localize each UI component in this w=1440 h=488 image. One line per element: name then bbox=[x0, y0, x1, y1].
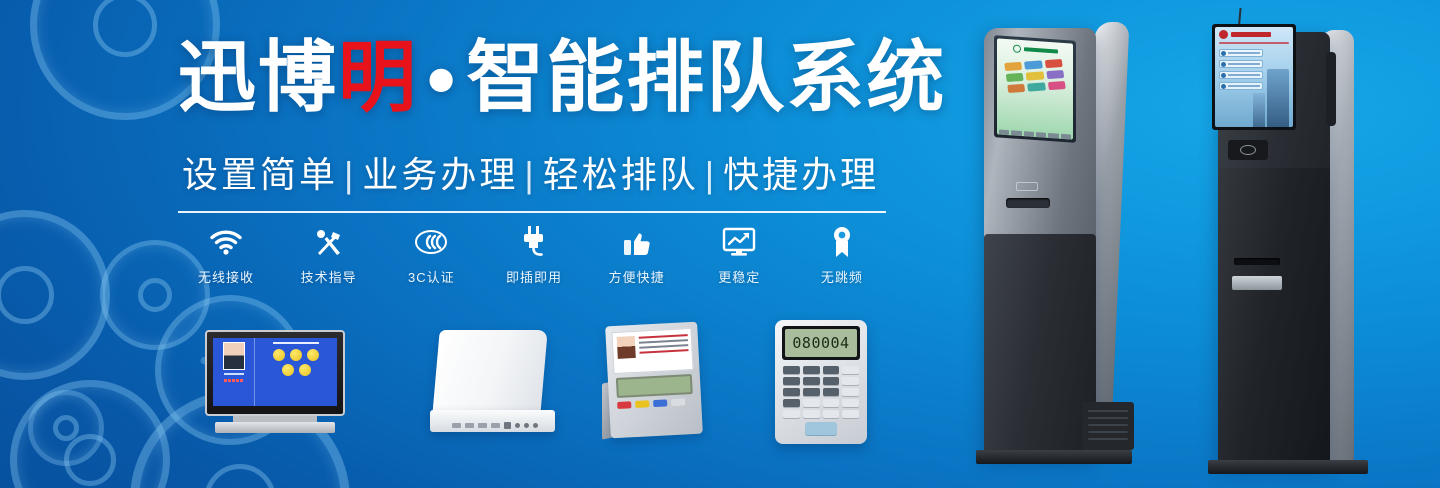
kiosk-screen[interactable] bbox=[997, 38, 1073, 139]
info-line bbox=[639, 339, 688, 344]
key[interactable] bbox=[842, 399, 859, 407]
page-title: 迅博明•智能排队系统 bbox=[178, 38, 898, 120]
key[interactable] bbox=[823, 377, 840, 385]
tab[interactable] bbox=[1036, 132, 1046, 138]
card-reader-icon bbox=[1240, 145, 1256, 155]
evaluator-buttons bbox=[617, 398, 693, 409]
silver-queue-kiosk bbox=[970, 22, 1145, 474]
tab[interactable] bbox=[999, 129, 1009, 135]
enter-key[interactable] bbox=[805, 422, 837, 435]
key[interactable] bbox=[823, 410, 840, 418]
tab[interactable] bbox=[1061, 134, 1071, 140]
tools-icon bbox=[314, 224, 344, 260]
keypad-keys bbox=[783, 366, 859, 418]
ticket-dispenser-slot bbox=[1006, 198, 1050, 208]
service-tile[interactable] bbox=[1006, 73, 1024, 82]
staff-name-line bbox=[224, 373, 244, 375]
subtitle-separator: | bbox=[338, 154, 362, 195]
service-grid bbox=[1004, 59, 1066, 93]
port bbox=[504, 422, 511, 429]
feature-item-no-frequency-hopping: 无跳频 bbox=[794, 224, 890, 286]
power-plug-icon bbox=[520, 224, 548, 260]
kiosk-screen[interactable] bbox=[1215, 27, 1293, 127]
rating-face bbox=[282, 364, 294, 376]
monitor-bezel bbox=[205, 330, 345, 416]
card-reader[interactable] bbox=[1228, 140, 1268, 160]
service-menu bbox=[1219, 49, 1263, 90]
kiosk-base bbox=[1208, 460, 1368, 474]
bank-name-text bbox=[1231, 32, 1271, 37]
screen-bottom-tabs bbox=[999, 129, 1071, 139]
desktop-evaluator bbox=[600, 324, 710, 444]
feature-item-stability: 更稳定 bbox=[691, 224, 787, 286]
rating-face bbox=[299, 364, 311, 376]
kiosk-screen-bezel bbox=[994, 35, 1076, 143]
service-tile[interactable] bbox=[1026, 71, 1044, 80]
dark-queue-kiosk bbox=[1200, 8, 1380, 474]
subtitle-item-2: 轻松排队 bbox=[543, 154, 699, 195]
service-tile[interactable] bbox=[1027, 82, 1045, 91]
key[interactable] bbox=[823, 388, 840, 396]
feature-item-plug-and-play: 即插即用 bbox=[486, 224, 582, 286]
key[interactable] bbox=[803, 388, 820, 396]
title-highlight: 明 bbox=[338, 33, 418, 123]
tab[interactable] bbox=[1024, 131, 1034, 137]
subtitle-separator: | bbox=[699, 154, 723, 195]
feature-item-convenient: 方便快捷 bbox=[589, 224, 685, 286]
info-line bbox=[639, 344, 688, 349]
rating-button[interactable] bbox=[635, 400, 649, 408]
menu-item[interactable] bbox=[1219, 60, 1263, 68]
kiosk-lower-body bbox=[1218, 168, 1330, 464]
monitor-staff-panel bbox=[213, 338, 255, 406]
feature-label: 技术指导 bbox=[301, 267, 357, 286]
feature-item-3c-certification: 3C认证 bbox=[383, 224, 479, 286]
subtitle-item-3: 快捷办理 bbox=[723, 154, 879, 195]
kiosk-vent bbox=[1082, 402, 1134, 450]
service-tile[interactable] bbox=[1046, 70, 1064, 79]
feature-item-wireless: 无线接收 bbox=[178, 224, 274, 286]
subtitle: 设置简单|业务办理|轻松排队|快捷办理 bbox=[182, 146, 942, 198]
monitor-chart-icon bbox=[722, 224, 756, 260]
subtitle-separator: | bbox=[518, 154, 542, 195]
key[interactable] bbox=[783, 366, 800, 374]
screen-subtitle-line bbox=[1219, 42, 1289, 44]
service-tile[interactable] bbox=[1044, 59, 1062, 68]
product-showcase: 080004 bbox=[0, 312, 900, 462]
monitor-base bbox=[215, 422, 335, 433]
rating-button[interactable] bbox=[617, 401, 631, 409]
port bbox=[515, 423, 520, 428]
divider bbox=[178, 211, 886, 213]
white-controller bbox=[430, 330, 555, 438]
bank-logo bbox=[1013, 44, 1058, 55]
tab[interactable] bbox=[1011, 130, 1021, 136]
promo-banner: 迅博明•智能排队系统 设置简单|业务办理|轻松排队|快捷办理 无线接收 bbox=[0, 0, 1440, 488]
key[interactable] bbox=[783, 399, 800, 407]
title-part-1: 迅博 bbox=[178, 33, 338, 123]
feature-item-tech-support: 技术指导 bbox=[281, 224, 377, 286]
ccc-certification-icon bbox=[414, 224, 448, 260]
subtitle-item-0: 设置简单 bbox=[182, 154, 338, 195]
key[interactable] bbox=[842, 410, 859, 418]
controller-ports bbox=[452, 422, 538, 429]
ticket-icon bbox=[1016, 182, 1038, 191]
feature-label: 方便快捷 bbox=[609, 267, 665, 286]
monitor-rating-panel bbox=[255, 338, 337, 406]
kiosk-base bbox=[976, 450, 1132, 464]
ticket-dispenser-slot bbox=[1234, 258, 1280, 265]
title-bullet: • bbox=[418, 44, 466, 121]
feature-label: 3C认证 bbox=[408, 267, 455, 286]
tab[interactable] bbox=[1048, 133, 1058, 139]
rating-prompt-line bbox=[273, 342, 319, 344]
rating-face bbox=[273, 349, 285, 361]
port bbox=[533, 423, 538, 428]
kiosk-screen-bezel bbox=[1212, 24, 1296, 130]
port bbox=[465, 423, 474, 428]
bank-logo bbox=[1215, 27, 1293, 39]
key[interactable] bbox=[842, 366, 859, 374]
key[interactable] bbox=[842, 377, 859, 385]
key[interactable] bbox=[783, 377, 800, 385]
kiosk-vent bbox=[1326, 52, 1336, 126]
keypad-screen-housing: 080004 bbox=[782, 326, 860, 360]
evaluator-body bbox=[605, 322, 703, 439]
staff-name-card bbox=[611, 328, 693, 374]
port bbox=[524, 423, 529, 428]
key[interactable] bbox=[823, 399, 840, 407]
key[interactable] bbox=[842, 388, 859, 396]
monitor-screen bbox=[213, 338, 337, 406]
bank-logo-mark bbox=[1219, 30, 1228, 39]
feature-label: 无跳频 bbox=[821, 267, 863, 286]
feature-label: 更稳定 bbox=[718, 267, 760, 286]
bank-name-text bbox=[1024, 47, 1058, 53]
menu-item[interactable] bbox=[1219, 49, 1263, 57]
wifi-icon bbox=[209, 224, 243, 260]
key[interactable] bbox=[803, 410, 820, 418]
service-tile[interactable] bbox=[1007, 84, 1025, 93]
controller-body bbox=[432, 330, 548, 416]
port bbox=[478, 423, 487, 428]
menu-item[interactable] bbox=[1219, 82, 1263, 90]
key[interactable] bbox=[783, 388, 800, 396]
staff-photo bbox=[617, 336, 636, 359]
evaluation-monitor bbox=[205, 330, 345, 436]
port bbox=[452, 423, 461, 428]
info-line bbox=[639, 334, 688, 339]
skyscraper-image bbox=[1267, 69, 1289, 127]
title-part-2: 智能排队系统 bbox=[466, 33, 946, 123]
subtitle-item-1: 业务办理 bbox=[362, 154, 518, 195]
rating-face bbox=[290, 349, 302, 361]
service-tile[interactable] bbox=[1004, 62, 1022, 71]
bank-logo-mark bbox=[1013, 44, 1021, 53]
service-tile[interactable] bbox=[1048, 81, 1066, 90]
rating-button[interactable] bbox=[653, 399, 667, 407]
staff-photo bbox=[223, 342, 245, 370]
rating-face bbox=[307, 349, 319, 361]
key[interactable] bbox=[803, 366, 820, 374]
keypad-lcd-value: 080004 bbox=[785, 329, 857, 357]
evaluator-lcd bbox=[616, 374, 693, 398]
key[interactable] bbox=[803, 399, 820, 407]
rating-face-set bbox=[265, 349, 327, 376]
service-tile[interactable] bbox=[1024, 60, 1042, 69]
rating-button[interactable] bbox=[671, 398, 685, 406]
brand-plate bbox=[1232, 276, 1282, 290]
info-line bbox=[640, 349, 689, 354]
key[interactable] bbox=[823, 366, 840, 374]
kiosk-lower-body bbox=[984, 234, 1096, 456]
port bbox=[491, 423, 500, 428]
number-keypad: 080004 bbox=[775, 320, 867, 444]
award-ribbon-icon bbox=[829, 224, 855, 260]
staff-info-lines bbox=[638, 329, 692, 372]
feature-label: 无线接收 bbox=[198, 267, 254, 286]
feature-label: 即插即用 bbox=[506, 267, 562, 286]
key[interactable] bbox=[783, 410, 800, 418]
rating-stars bbox=[224, 379, 243, 382]
menu-item[interactable] bbox=[1219, 71, 1263, 79]
thumbs-up-icon bbox=[622, 224, 652, 260]
key[interactable] bbox=[803, 377, 820, 385]
feature-list: 无线接收 技术指导 bbox=[178, 224, 890, 292]
